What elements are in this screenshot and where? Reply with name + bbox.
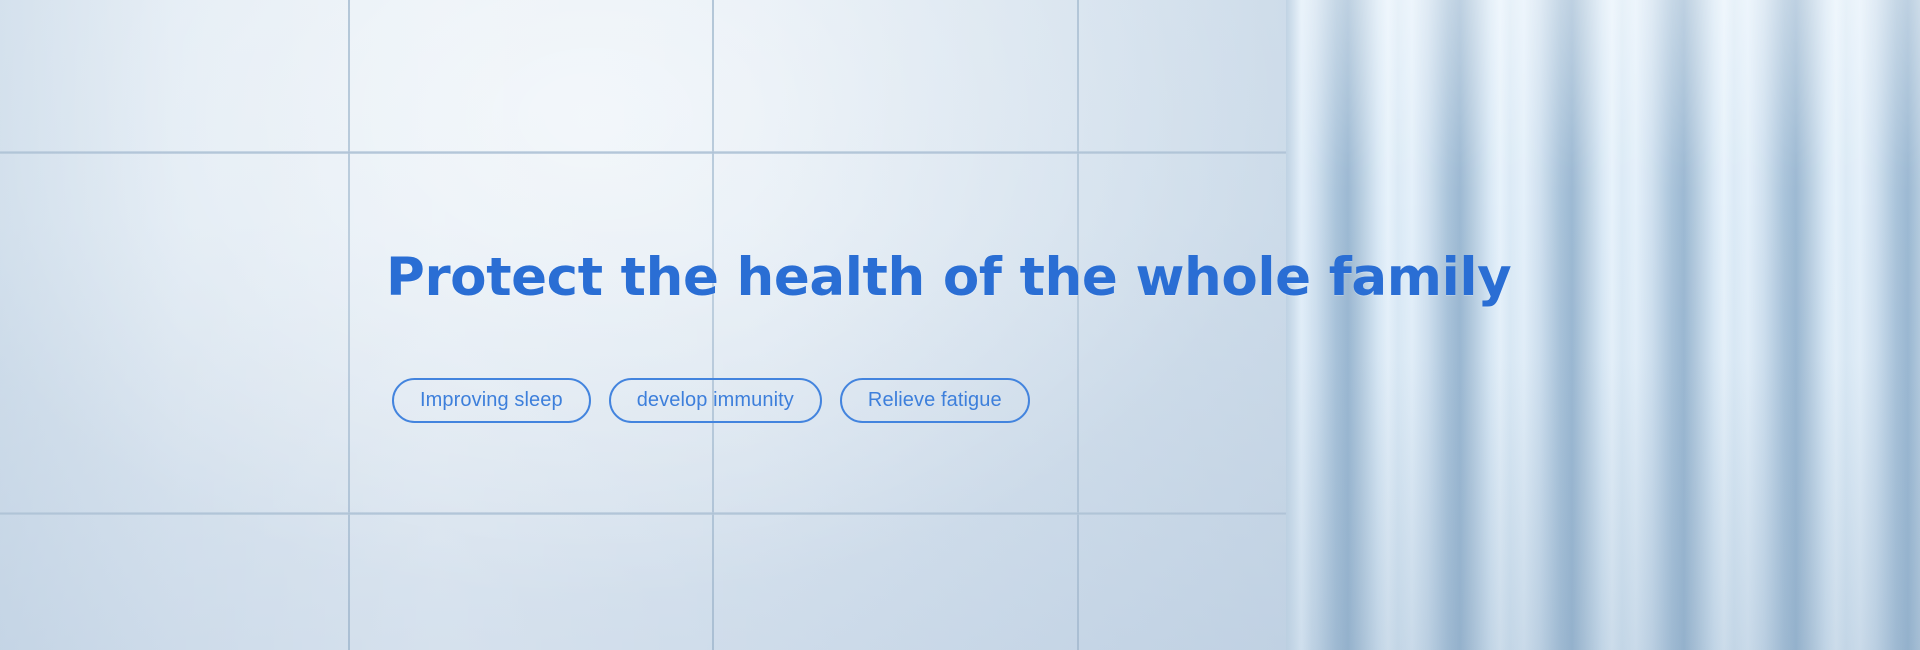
banner-headline: Protect the health of the whole family (386, 246, 1511, 310)
tag-develop-immunity[interactable]: develop immunity (609, 378, 822, 423)
hero-banner: Protect the health of the whole family I… (0, 0, 1920, 650)
benefit-tag-row: Improving sleep develop immunity Relieve… (392, 378, 1030, 423)
tag-improving-sleep[interactable]: Improving sleep (392, 378, 591, 423)
tag-relieve-fatigue[interactable]: Relieve fatigue (840, 378, 1030, 423)
banner-content: Protect the health of the whole family I… (0, 0, 1920, 650)
